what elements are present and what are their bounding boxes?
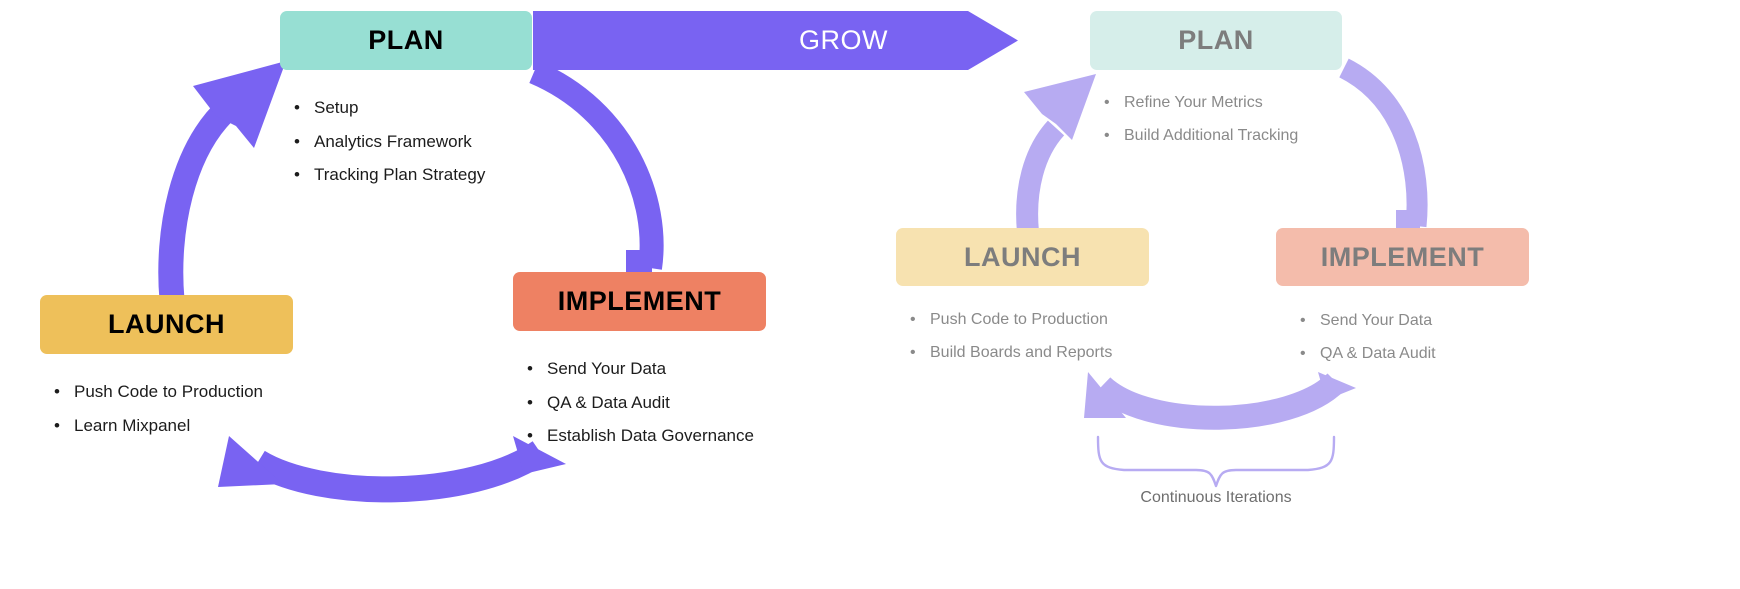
bullet-label: Push Code to Production [74, 375, 263, 409]
list-item: • Refine Your Metrics [1104, 86, 1342, 119]
bullet-icon: • [527, 419, 547, 453]
bullet-icon: • [910, 336, 930, 369]
stage-bullets-implement-faded: • Send Your Data • QA & Data Audit [1276, 304, 1529, 370]
bullet-label: Analytics Framework [314, 125, 472, 159]
lifecycle-diagram: PLAN • Setup • Analytics Framework • Tra… [0, 0, 1740, 589]
continuous-iterations-brace [1098, 437, 1334, 486]
bullet-label: Build Additional Tracking [1124, 119, 1298, 152]
stage-title-implement-active[interactable]: IMPLEMENT [513, 272, 766, 331]
list-item: • Setup [294, 91, 532, 125]
list-item: • Establish Data Governance [527, 419, 766, 453]
bullet-icon: • [54, 409, 74, 443]
arrow-plan-to-implement-faded [1344, 68, 1420, 236]
list-item: • Analytics Framework [294, 125, 532, 159]
stage-title-launch-faded[interactable]: LAUNCH [896, 228, 1149, 286]
list-item: • Send Your Data [527, 352, 766, 386]
arrow-launch-to-plan-active [171, 61, 286, 300]
bullet-label: Send Your Data [1320, 304, 1432, 337]
stage-bullets-launch-active: • Push Code to Production • Learn Mixpan… [40, 375, 293, 442]
list-item: • Build Additional Tracking [1104, 119, 1342, 152]
list-item: • Learn Mixpanel [54, 409, 293, 443]
stage-bullets-launch-faded: • Push Code to Production • Build Boards… [896, 303, 1149, 369]
list-item: • Tracking Plan Strategy [294, 158, 532, 192]
list-item: • Send Your Data [1300, 304, 1529, 337]
bullet-icon: • [1104, 86, 1124, 119]
arrow-launch-to-plan-faded [1024, 74, 1096, 232]
stage-bullets-implement-active: • Send Your Data • QA & Data Audit • Est… [513, 352, 766, 453]
arrow-implement-to-launch-faded [1084, 372, 1356, 418]
bullet-label: Establish Data Governance [547, 419, 754, 453]
continuous-iterations-label: Continuous Iterations [1096, 489, 1336, 507]
bullet-icon: • [54, 375, 74, 409]
bullet-label: QA & Data Audit [1320, 337, 1436, 370]
bullet-label: Learn Mixpanel [74, 409, 190, 443]
bullet-icon: • [1300, 337, 1320, 370]
bullet-icon: • [527, 386, 547, 420]
stage-title-plan-faded[interactable]: PLAN [1090, 11, 1342, 70]
bullet-label: Refine Your Metrics [1124, 86, 1263, 119]
grow-label: GROW [799, 25, 888, 56]
bullet-icon: • [294, 125, 314, 159]
bullet-icon: • [1300, 304, 1320, 337]
list-item: • QA & Data Audit [527, 386, 766, 420]
stage-implement-faded: IMPLEMENT • Send Your Data • QA & Data A… [1276, 228, 1529, 370]
stage-launch-faded: LAUNCH • Push Code to Production • Build… [896, 228, 1149, 369]
bullet-icon: • [527, 352, 547, 386]
bullet-icon: • [294, 158, 314, 192]
bullet-label: Tracking Plan Strategy [314, 158, 485, 192]
list-item: • Push Code to Production [54, 375, 293, 409]
stage-title-plan-active[interactable]: PLAN [280, 11, 532, 70]
bullet-icon: • [910, 303, 930, 336]
grow-transition-banner[interactable]: GROW [533, 11, 1018, 70]
stage-title-launch-active[interactable]: LAUNCH [40, 295, 293, 354]
stage-plan-faded: PLAN • Refine Your Metrics • Build Addit… [1090, 11, 1342, 152]
stage-title-implement-faded[interactable]: IMPLEMENT [1276, 228, 1529, 286]
list-item: • Build Boards and Reports [910, 336, 1149, 369]
stage-implement-active: IMPLEMENT • Send Your Data • QA & Data A… [513, 272, 766, 453]
list-item: • Push Code to Production [910, 303, 1149, 336]
bullet-label: QA & Data Audit [547, 386, 670, 420]
bullet-icon: • [1104, 119, 1124, 152]
list-item: • QA & Data Audit [1300, 337, 1529, 370]
bullet-label: Build Boards and Reports [930, 336, 1112, 369]
stage-plan-active: PLAN • Setup • Analytics Framework • Tra… [280, 11, 532, 192]
stage-bullets-plan-active: • Setup • Analytics Framework • Tracking… [280, 91, 532, 192]
bullet-label: Send Your Data [547, 352, 666, 386]
arrow-plan-to-implement-active [534, 72, 652, 284]
bullet-icon: • [294, 91, 314, 125]
stage-bullets-plan-faded: • Refine Your Metrics • Build Additional… [1090, 86, 1342, 152]
bullet-label: Setup [314, 91, 358, 125]
stage-launch-active: LAUNCH • Push Code to Production • Learn… [40, 295, 293, 442]
bullet-label: Push Code to Production [930, 303, 1108, 336]
